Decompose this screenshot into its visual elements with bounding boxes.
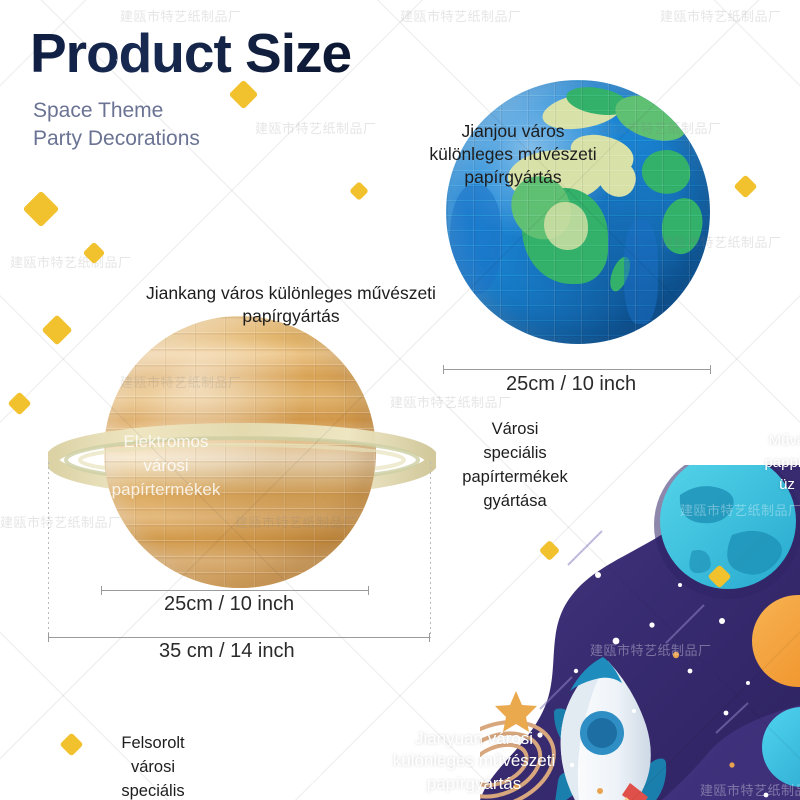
page-title: Product Size xyxy=(30,26,351,81)
earth-lantern-caption: Jianjou város különleges művészeti papír… xyxy=(398,120,628,189)
saturn-ring-dimension-line xyxy=(48,637,430,638)
diamond-decoration-0 xyxy=(23,191,60,228)
earth-dimension-label: 25cm / 10 inch xyxy=(506,373,636,396)
watermark-brand-1: 建瓯市特艺纸制品厂 xyxy=(400,6,522,25)
page-subtitle: Space Theme Party Decorations xyxy=(33,97,200,152)
saturn-guide-left xyxy=(48,462,49,638)
subtitle-line-2: Party Decorations xyxy=(33,125,200,153)
annotation-right-side: Városi speciális papírtermékek gyártása xyxy=(440,418,590,514)
watermark-brand-2: 建瓯市特艺纸制品厂 xyxy=(660,6,782,25)
diamond-decoration-5 xyxy=(349,181,369,201)
watermark-brand-7: 建瓯市特艺纸制品厂 xyxy=(390,392,512,411)
diamond-decoration-1 xyxy=(83,242,106,265)
diamond-decoration-6 xyxy=(733,174,757,198)
saturn-guide-right xyxy=(430,462,431,638)
annotation-bottom-left: Felsorolt városi speciális xyxy=(88,732,218,800)
annotation-right-edge: Művé pappiá üz xyxy=(752,430,800,495)
saturn-ball-dimension-line xyxy=(101,590,369,591)
saturn-ring-dimension-label: 35 cm / 14 inch xyxy=(159,640,295,663)
subtitle-line-1: Space Theme xyxy=(33,97,200,125)
watermark-brand-4: 建瓯市特艺纸制品厂 xyxy=(255,118,377,137)
saturn-lantern-caption: Jiankang város különleges művészeti papí… xyxy=(126,282,456,328)
product-size-infographic: 25cm / 10 inch Jianjou város különleges … xyxy=(0,0,800,800)
earth-dimension-line xyxy=(443,369,711,370)
saturn-ring-overlay-text: Elektromos városi papírtermékek xyxy=(86,430,246,502)
annotation-bottom-center: Jianyuan városi különleges művészeti pap… xyxy=(354,728,594,795)
saturn-ball-dimension-label: 25cm / 10 inch xyxy=(164,593,294,616)
watermark-brand-3: 建瓯市特艺纸制品厂 xyxy=(10,252,132,271)
diamond-decoration-3 xyxy=(7,391,31,415)
diamond-decoration-4 xyxy=(229,80,259,110)
diamond-decoration-9 xyxy=(59,732,83,756)
diamond-decoration-2 xyxy=(41,314,72,345)
